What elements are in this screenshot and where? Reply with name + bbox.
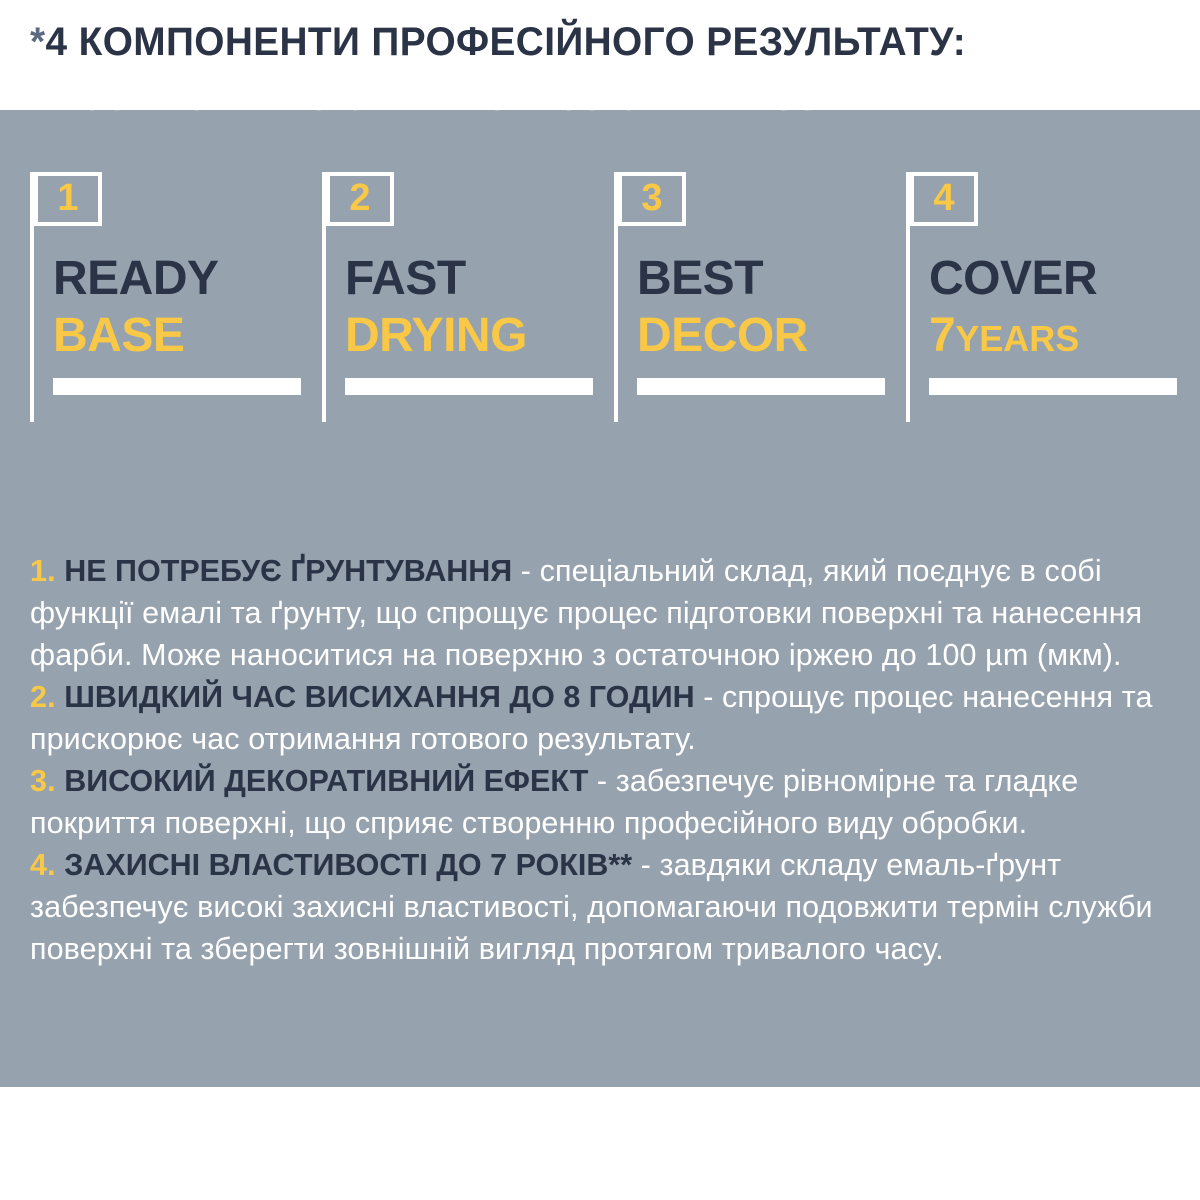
- flag-word-secondary-main: BASE: [53, 309, 184, 362]
- flag-word-secondary: DECOR: [637, 312, 808, 360]
- feature-number: 1.: [30, 554, 56, 588]
- feature-item-3: 3. ВИСОКИЙ ДЕКОРАТИВНИЙ ЕФЕКТ - забезпеч…: [30, 760, 1170, 844]
- flag-number: 3: [622, 176, 682, 222]
- feature-heading: ШВИДКИЙ ЧАС ВИСИХАННЯ ДО 8 ГОДИН: [64, 680, 694, 714]
- flag-word-secondary: DRYING: [345, 312, 527, 360]
- flag-number-box: 4: [910, 172, 978, 226]
- header: *4 КОМПОНЕНТИ ПРОФЕСІЙНОГО РЕЗУЛЬТАТУ: 4…: [30, 22, 1170, 118]
- flag-word-secondary: BASE: [53, 312, 184, 360]
- feature-number: 3.: [30, 764, 56, 798]
- flags-row: 1 READY BASE 2 FAST DRYING 3 BEST DECOR: [30, 160, 1180, 425]
- feature-item-2: 2. ШВИДКИЙ ЧАС ВИСИХАННЯ ДО 8 ГОДИН - сп…: [30, 676, 1170, 760]
- flag-word-primary: BEST: [637, 255, 763, 303]
- flag-number-box: 1: [34, 172, 102, 226]
- page-subtitle: 4 COMPONENTS OF A PROFESSIONAL RESULT: [48, 82, 1170, 118]
- flag-number-box: 2: [326, 172, 394, 226]
- feature-item-4: 4. ЗАХИСНІ ВЛАСТИВОСТІ ДО 7 РОКІВ** - за…: [30, 844, 1170, 970]
- feature-heading: НЕ ПОТРЕБУЄ ҐРУНТУВАННЯ: [64, 554, 512, 588]
- flag-word-secondary-main: DRYING: [345, 309, 527, 362]
- flag-number: 4: [914, 176, 974, 222]
- flag-number: 1: [38, 176, 98, 222]
- feature-number: 2.: [30, 680, 56, 714]
- flag-underline-bar: [929, 378, 1177, 395]
- flag-card-1: 1 READY BASE: [30, 160, 322, 425]
- flag-word-secondary-small: YEARS: [955, 318, 1079, 359]
- flag-card-4: 4 COVER 7YEARS: [906, 160, 1198, 425]
- flag-underline-bar: [53, 378, 301, 395]
- feature-heading: ЗАХИСНІ ВЛАСТИВОСТІ ДО 7 РОКІВ**: [64, 848, 632, 882]
- flag-word-secondary: 7YEARS: [929, 312, 1079, 360]
- asterisk-mark: *: [30, 20, 45, 64]
- flag-word-primary: READY: [53, 255, 219, 303]
- flag-card-3: 3 BEST DECOR: [614, 160, 906, 425]
- page-title-text: 4 КОМПОНЕНТИ ПРОФЕСІЙНОГО РЕЗУЛЬТАТУ:: [45, 20, 966, 64]
- flag-word-secondary-main: 7: [929, 309, 955, 362]
- flag-underline-bar: [637, 378, 885, 395]
- page-title: *4 КОМПОНЕНТИ ПРОФЕСІЙНОГО РЕЗУЛЬТАТУ:: [30, 22, 1136, 62]
- flag-card-2: 2 FAST DRYING: [322, 160, 614, 425]
- flag-word-primary: FAST: [345, 255, 466, 303]
- flag-number: 2: [330, 176, 390, 222]
- feature-item-1: 1. НЕ ПОТРЕБУЄ ҐРУНТУВАННЯ - спеціальний…: [30, 550, 1170, 676]
- feature-number: 4.: [30, 848, 56, 882]
- flag-word-primary: COVER: [929, 255, 1097, 303]
- feature-list: 1. НЕ ПОТРЕБУЄ ҐРУНТУВАННЯ - спеціальний…: [30, 550, 1170, 970]
- flag-number-box: 3: [618, 172, 686, 226]
- flag-word-secondary-main: DECOR: [637, 309, 808, 362]
- flag-underline-bar: [345, 378, 593, 395]
- feature-heading: ВИСОКИЙ ДЕКОРАТИВНИЙ ЕФЕКТ: [64, 764, 588, 798]
- infographic-page: *4 КОМПОНЕНТИ ПРОФЕСІЙНОГО РЕЗУЛЬТАТУ: 4…: [0, 0, 1200, 1200]
